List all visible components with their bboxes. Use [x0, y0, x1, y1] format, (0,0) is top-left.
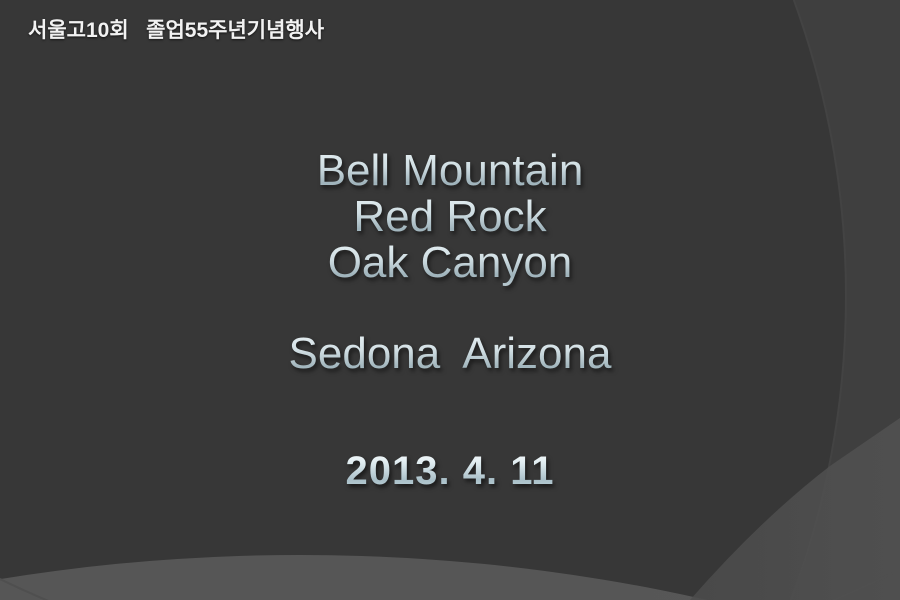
title-line-2: Red Rock	[0, 194, 900, 240]
slide-date-text: 2013. 4. 11	[0, 448, 900, 494]
slide-header-text: 서울고10회 졸업55주년기념행사	[28, 14, 324, 44]
slide-title-block: Bell Mountain Red Rock Oak Canyon Sedona…	[0, 148, 900, 378]
presentation-slide: 서울고10회 졸업55주년기념행사 Bell Mountain Red Rock…	[0, 0, 900, 600]
title-line-3: Oak Canyon	[0, 240, 900, 286]
title-line-1: Bell Mountain	[0, 148, 900, 194]
slide-subtitle-location: Sedona Arizona	[0, 330, 900, 378]
